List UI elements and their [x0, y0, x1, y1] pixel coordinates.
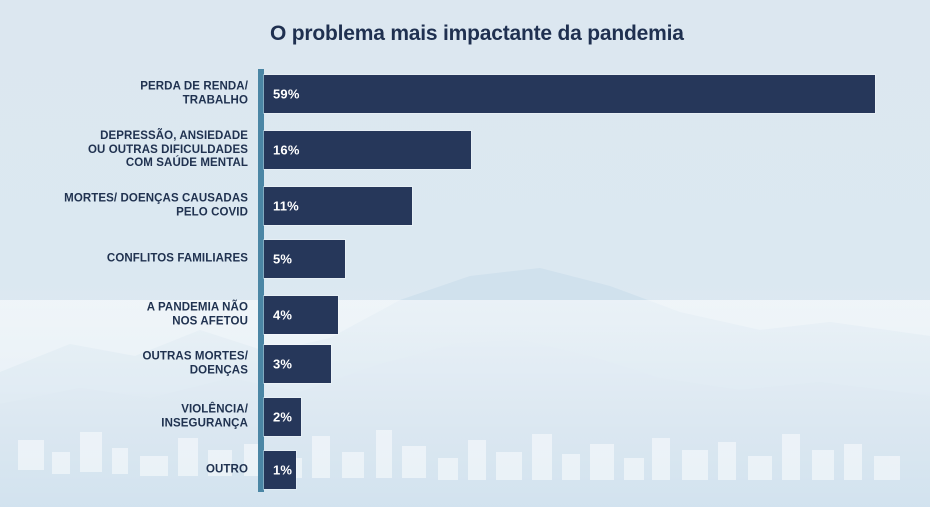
category-label-line: OUTRAS MORTES/ — [142, 351, 248, 363]
category-label-line: TRABALHO — [183, 94, 248, 106]
bar: 11% — [264, 187, 412, 225]
bar-row: PERDA DE RENDA/TRABALHO59% — [0, 75, 930, 113]
bar-row: OUTRO1% — [0, 451, 930, 489]
bar-row: A PANDEMIA NÃONOS AFETOU4% — [0, 296, 930, 334]
bar: 3% — [264, 345, 331, 383]
category-label-line: PERDA DE RENDA/ — [140, 81, 248, 93]
bar: 4% — [264, 296, 338, 334]
bar-value-label: 5% — [273, 252, 292, 267]
category-label-line: A PANDEMIA NÃO — [147, 302, 248, 314]
category-label-line: INSEGURANÇA — [161, 417, 248, 429]
bar: 5% — [264, 240, 345, 278]
bar-value-label: 3% — [273, 357, 292, 372]
category-label: A PANDEMIA NÃONOS AFETOU — [18, 302, 248, 329]
category-label: DEPRESSÃO, ANSIEDADEOU OUTRAS DIFICULDAD… — [18, 130, 248, 171]
bar-value-label: 4% — [273, 308, 292, 323]
category-label-line: CONFLITOS FAMILIARES — [107, 252, 248, 264]
bar-row: MORTES/ DOENÇAS CAUSADASPELO COVID11% — [0, 187, 930, 225]
category-label: OUTRAS MORTES/DOENÇAS — [18, 351, 248, 378]
chart-title: O problema mais impactante da pandemia — [270, 22, 684, 46]
category-label-line: DOENÇAS — [190, 364, 248, 376]
bar: 2% — [264, 398, 301, 436]
chart-container: O problema mais impactante da pandemia P… — [0, 0, 930, 507]
category-label: MORTES/ DOENÇAS CAUSADASPELO COVID — [18, 193, 248, 220]
bar-row: DEPRESSÃO, ANSIEDADEOU OUTRAS DIFICULDAD… — [0, 131, 930, 169]
bar: 16% — [264, 131, 471, 169]
plot-area: PERDA DE RENDA/TRABALHO59%DEPRESSÃO, ANS… — [0, 67, 930, 497]
bar: 59% — [264, 75, 875, 113]
category-label-line: DEPRESSÃO, ANSIEDADE — [100, 130, 248, 142]
category-label-line: OU OUTRAS DIFICULDADES — [88, 143, 248, 155]
category-label-line: OUTRO — [206, 463, 248, 475]
category-label: PERDA DE RENDA/TRABALHO — [18, 81, 248, 108]
bar: 1% — [264, 451, 296, 489]
category-label: VIOLÊNCIA/INSEGURANÇA — [18, 404, 248, 431]
category-label-line: PELO COVID — [176, 206, 248, 218]
category-label: CONFLITOS FAMILIARES — [18, 252, 248, 266]
category-label-line: COM SAÚDE MENTAL — [126, 157, 248, 169]
bar-value-label: 11% — [273, 199, 299, 214]
category-label-line: NOS AFETOU — [172, 315, 248, 327]
bar-row: VIOLÊNCIA/INSEGURANÇA2% — [0, 398, 930, 436]
category-label-line: VIOLÊNCIA/ — [181, 404, 248, 416]
bar-value-label: 2% — [273, 410, 292, 425]
bar-row: CONFLITOS FAMILIARES5% — [0, 240, 930, 278]
bar-value-label: 16% — [273, 143, 300, 158]
bar-value-label: 59% — [273, 87, 300, 102]
bar-row: OUTRAS MORTES/DOENÇAS3% — [0, 345, 930, 383]
category-label: OUTRO — [18, 463, 248, 477]
category-label-line: MORTES/ DOENÇAS CAUSADAS — [64, 193, 248, 205]
bar-value-label: 1% — [273, 463, 292, 478]
